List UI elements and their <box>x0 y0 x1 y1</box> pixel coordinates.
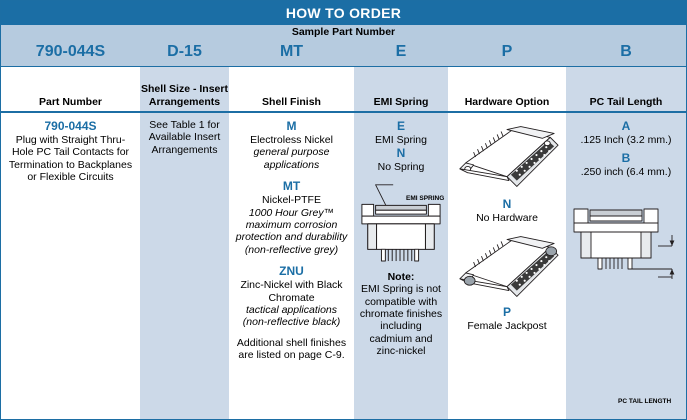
page-title: HOW TO ORDER <box>286 5 401 21</box>
sample-part-number-caption: Sample Part Number <box>1 25 686 38</box>
cell-hardware-option: N No Hardware <box>448 113 566 419</box>
shell-finish-detail2-znu: (non-reflective black) <box>233 316 350 328</box>
shell-finish-option-m: M Electroless Nickel general purpose app… <box>233 119 350 171</box>
sample-part-number-codes: 790-044S D-15 MT E P B <box>1 38 686 65</box>
column-header-part-number: Part Number <box>1 67 140 111</box>
shell-finish-detail-m: general purpose applications <box>233 146 350 171</box>
shell-finish-detail-mt: 1000 Hour Grey™ maximum corrosion protec… <box>233 207 350 244</box>
column-header-shell-size: Shell Size - Insert Arrangements <box>140 67 229 111</box>
hardware-option-name-p: Female Jackpost <box>452 320 562 332</box>
shell-finish-name-mt: Nickel-PTFE <box>233 194 350 206</box>
shell-finish-code-m: M <box>233 119 350 134</box>
emi-spring-name-e: EMI Spring <box>358 134 444 146</box>
table-title-bar: HOW TO ORDER <box>1 1 686 25</box>
shell-finish-code-znu: ZNU <box>233 264 350 279</box>
emi-spring-note-body: EMI Spring is not compatible with chroma… <box>358 283 444 357</box>
shell-finish-option-mt: MT Nickel-PTFE 1000 Hour Grey™ maximum c… <box>233 179 350 256</box>
emi-spring-callout-label: EMI SPRING <box>406 195 444 203</box>
pc-tail-name-b: .250 inch (6.4 mm.) <box>570 166 682 178</box>
connector-isometric-no-hardware-drawing <box>452 119 562 197</box>
hardware-option-name-n: No Hardware <box>452 212 562 224</box>
cell-shell-finish: M Electroless Nickel general purpose app… <box>229 113 354 419</box>
pc-tail-length-diagram <box>570 205 682 285</box>
shell-finish-option-znu: ZNU Zinc-Nickel with Black Chromate tact… <box>233 264 350 329</box>
sample-code-hardware: P <box>448 43 566 60</box>
sample-code-emi-spring: E <box>354 43 448 60</box>
shell-finish-name-znu: Zinc-Nickel with Black Chromate <box>233 279 350 304</box>
cell-shell-size: See Table 1 for Available Insert Arrange… <box>140 113 229 419</box>
cell-pc-tail-length: A .125 Inch (3.2 mm.) B .250 inch (6.4 m… <box>566 113 686 419</box>
column-header-row: Part Number Shell Size - Insert Arrangem… <box>1 67 686 113</box>
shell-finish-detail-znu: tactical applications <box>233 304 350 316</box>
cell-part-number: 790-044S Plug with Straight Thru-Hole PC… <box>1 113 140 419</box>
emi-spring-name-n: No Spring <box>358 161 444 173</box>
column-header-emi-spring: EMI Spring <box>354 67 448 111</box>
hardware-option-code-p: P <box>452 305 562 320</box>
sample-code-part-number: 790-044S <box>1 43 140 60</box>
sample-code-pc-tail: B <box>566 43 686 60</box>
hardware-option-p-diagram <box>452 229 562 305</box>
hardware-option-code-n: N <box>452 197 562 212</box>
column-header-shell-finish: Shell Finish <box>229 67 354 111</box>
shell-finish-code-mt: MT <box>233 179 350 194</box>
connector-pc-tail-dimension-drawing <box>570 205 682 285</box>
emi-spring-code-n: N <box>358 146 444 161</box>
shell-finish-footnote: Additional shell finishes are listed on … <box>233 337 350 362</box>
sample-part-number-band: Sample Part Number 790-044S D-15 MT E P … <box>1 25 686 67</box>
pc-tail-code-a: A <box>570 119 682 134</box>
cell-emi-spring: E EMI Spring N No Spring <box>354 113 448 419</box>
connector-isometric-female-jackpost-drawing <box>452 229 562 305</box>
hardware-option-n-diagram <box>452 119 562 197</box>
column-header-hardware-option: Hardware Option <box>448 67 566 111</box>
sample-code-shell-finish: MT <box>229 43 354 60</box>
part-number-description: Plug with Straight Thru-Hole PC Tail Con… <box>5 134 136 184</box>
table-body-row: 790-044S Plug with Straight Thru-Hole PC… <box>1 113 686 419</box>
shell-finish-name-m: Electroless Nickel <box>233 134 350 146</box>
part-number-code: 790-044S <box>5 119 136 134</box>
emi-spring-diagram <box>358 174 444 266</box>
column-header-pc-tail-length: PC Tail Length <box>566 67 686 111</box>
connector-front-view-drawing <box>358 174 444 266</box>
how-to-order-table: HOW TO ORDER Sample Part Number 790-044S… <box>0 0 687 420</box>
emi-spring-code-e: E <box>358 119 444 134</box>
shell-finish-detail2-mt: (non-reflective grey) <box>233 244 350 256</box>
pc-tail-name-a: .125 Inch (3.2 mm.) <box>570 134 682 146</box>
emi-spring-note-title: Note: <box>358 271 444 283</box>
shell-size-text: See Table 1 for Available Insert Arrange… <box>144 119 225 156</box>
pc-tail-length-callout-label: PC TAIL LENGTH <box>618 398 671 406</box>
pc-tail-code-b: B <box>570 151 682 166</box>
sample-code-shell-size: D-15 <box>140 43 229 60</box>
